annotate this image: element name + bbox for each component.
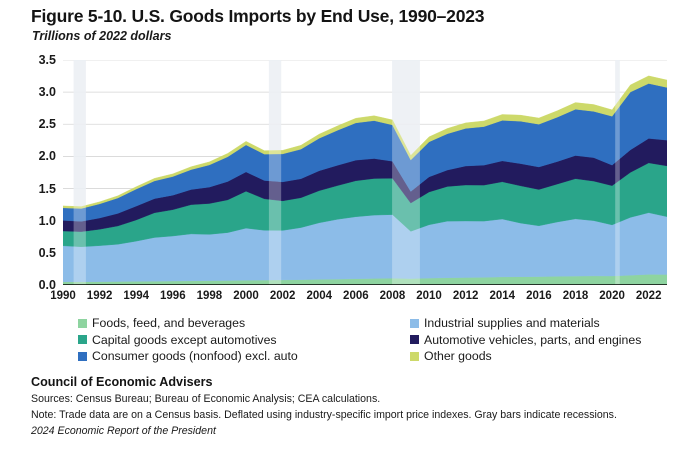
y-axis-tick-label: 1.5 (22, 183, 56, 196)
legend-label: Foods, feed, and beverages (92, 317, 245, 329)
x-axis-tick-label: 2008 (372, 291, 412, 303)
x-axis-tick-label: 2002 (263, 291, 303, 303)
legend-label: Industrial supplies and materials (424, 317, 600, 329)
figure-container: Figure 5-10. U.S. Goods Imports by End U… (0, 0, 700, 467)
y-axis-tick-label: 2.0 (22, 150, 56, 163)
x-axis-tick-label: 2020 (592, 291, 632, 303)
x-axis-tick-label: 1990 (43, 291, 83, 303)
legend-label: Capital goods except automotives (92, 334, 277, 346)
legend-item: Capital goods except automotives (78, 334, 277, 346)
recession-band-overlay (74, 60, 86, 285)
recession-band-overlay (392, 60, 420, 285)
x-axis-tick-label: 2006 (336, 291, 376, 303)
legend-swatch (78, 319, 87, 328)
legend-swatch (78, 335, 87, 344)
x-axis-tick-label: 1996 (153, 291, 193, 303)
recession-band-overlay (269, 60, 281, 285)
legend-swatch (410, 335, 419, 344)
legend-item: Other goods (410, 350, 492, 362)
legend-swatch (410, 319, 419, 328)
y-axis-tick-label: 1.0 (22, 215, 56, 228)
legend-label: Other goods (424, 350, 492, 362)
figure-title: Figure 5-10. U.S. Goods Imports by End U… (31, 6, 484, 27)
x-axis-tick-label: 1998 (189, 291, 229, 303)
x-axis-tick-label: 2016 (519, 291, 559, 303)
x-axis-tick-label: 2018 (555, 291, 595, 303)
x-axis-tick-label: 1992 (80, 291, 120, 303)
y-axis-tick-label: 0.5 (22, 247, 56, 260)
chart-svg (63, 60, 667, 285)
y-axis-tick-label: 3.5 (22, 54, 56, 67)
x-axis-tick-label: 2012 (446, 291, 486, 303)
x-axis-tick-label: 2004 (299, 291, 339, 303)
legend-item: Industrial supplies and materials (410, 317, 600, 329)
legend-item: Foods, feed, and beverages (78, 317, 245, 329)
figure-subtitle: Trillions of 2022 dollars (32, 29, 171, 43)
stacked-area-plot (63, 60, 667, 285)
legend-label: Consumer goods (nonfood) excl. auto (92, 350, 298, 362)
y-axis-tick-label: 2.5 (22, 118, 56, 131)
recession-band-overlay (615, 60, 620, 285)
x-axis-tick-label: 1994 (116, 291, 156, 303)
sources-note: Sources: Census Bureau; Bureau of Econom… (31, 393, 380, 406)
legend-swatch (78, 352, 87, 361)
legend-item: Consumer goods (nonfood) excl. auto (78, 350, 298, 362)
source-organization: Council of Economic Advisers (31, 375, 212, 389)
legend-item: Automotive vehicles, parts, and engines (410, 334, 641, 346)
x-axis-tick-label: 2010 (409, 291, 449, 303)
y-axis-tick-label: 3.0 (22, 86, 56, 99)
methodology-note: Note: Trade data are on a Census basis. … (31, 409, 617, 422)
x-axis-tick-label: 2000 (226, 291, 266, 303)
legend-label: Automotive vehicles, parts, and engines (424, 334, 641, 346)
x-axis-tick-label: 2014 (482, 291, 522, 303)
publication-note: 2024 Economic Report of the President (31, 425, 216, 438)
x-axis-tick-label: 2022 (629, 291, 669, 303)
legend-swatch (410, 352, 419, 361)
